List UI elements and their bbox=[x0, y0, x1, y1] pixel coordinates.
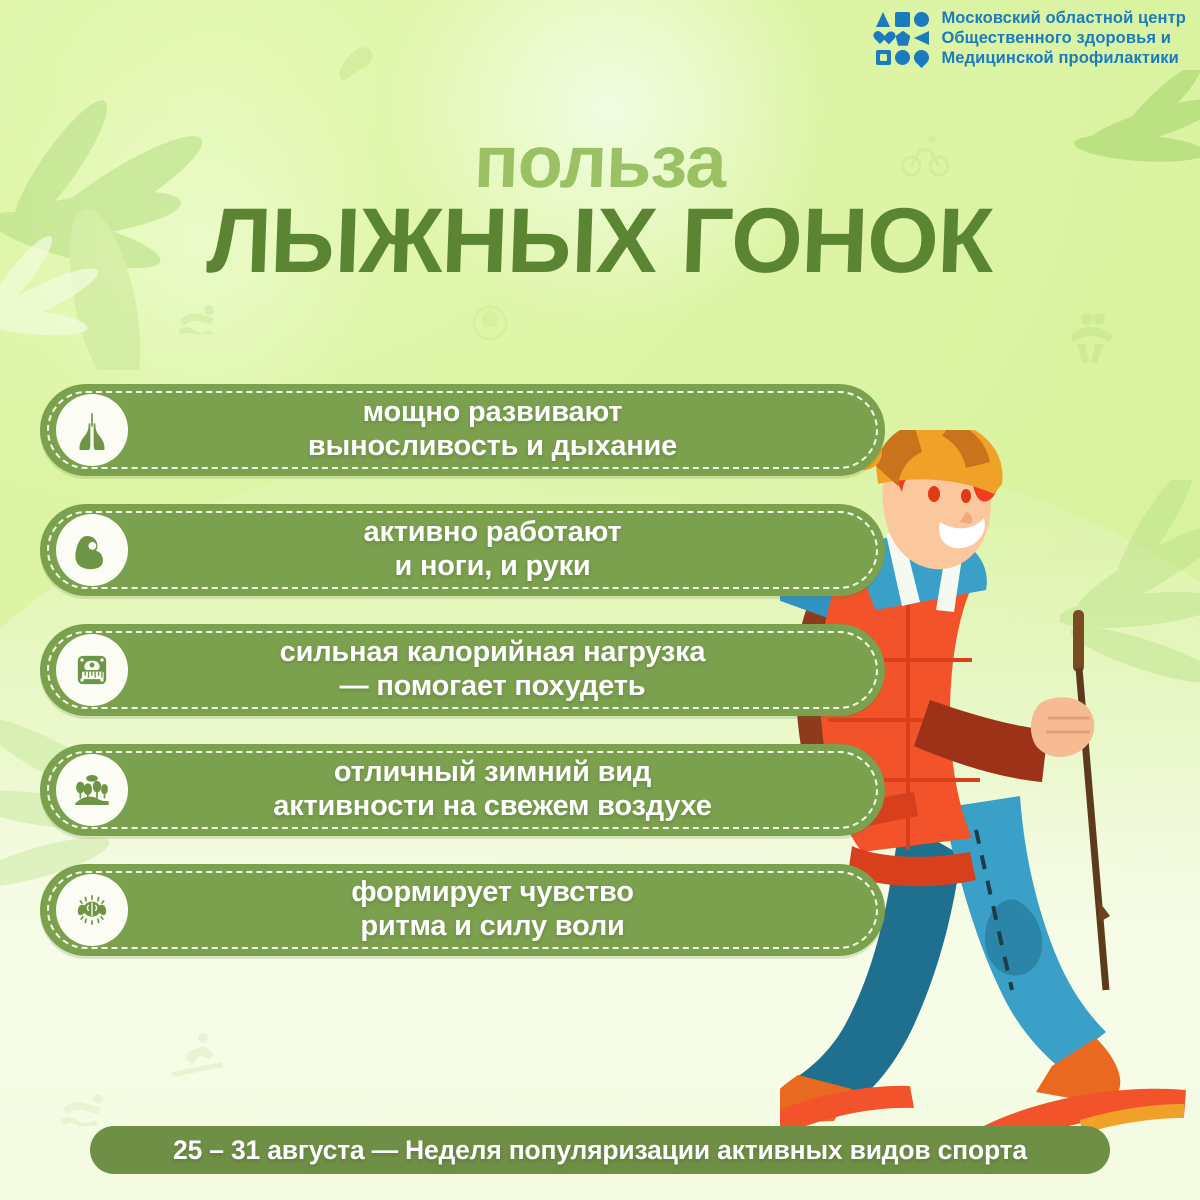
logo-shape-drop bbox=[911, 47, 932, 68]
benefit-card-2-text: активно работают и ноги, и руки bbox=[128, 516, 885, 583]
logo-shape-pentagon bbox=[895, 31, 910, 46]
ski-pole bbox=[1073, 610, 1110, 990]
benefit-card-1-line-2: выносливость и дыхание bbox=[134, 430, 851, 464]
leaf-cluster-right-icon bbox=[1060, 480, 1200, 780]
skier-back-boot bbox=[780, 1075, 852, 1123]
title-line-2: ЛЫЖНЫХ ГОНОК bbox=[0, 195, 1200, 287]
benefit-card-1-line-1: мощно развивают bbox=[134, 396, 851, 430]
benefit-card-4-line-2: активности на свежем воздухе bbox=[134, 790, 851, 824]
benefit-card-4-text: отличный зимний вид активности на свежем… bbox=[128, 756, 885, 823]
skier-pictogram-icon bbox=[170, 1030, 226, 1080]
footer-text: 25 – 31 августа — Неделя популяризации а… bbox=[173, 1135, 1027, 1166]
skier-front-boot bbox=[1036, 1038, 1120, 1102]
logo-text: Московский областной центр Общественного… bbox=[941, 8, 1186, 68]
logo-shape-circle bbox=[914, 12, 929, 27]
skier-eye-left bbox=[928, 486, 940, 502]
logo-shape-circle-2 bbox=[895, 50, 910, 65]
weight-scale-tape-icon bbox=[56, 634, 128, 706]
running-shoe-pictogram-icon bbox=[335, 30, 377, 88]
logo-shapes-grid-icon bbox=[876, 12, 929, 65]
benefit-card-4-line-1: отличный зимний вид bbox=[134, 756, 851, 790]
benefits-list: мощно развивают выносливость и дыхание а… bbox=[40, 384, 885, 984]
skier-front-leg bbox=[942, 796, 1106, 1068]
benefit-card-4[interactable]: отличный зимний вид активности на свежем… bbox=[40, 744, 885, 836]
lungs-icon bbox=[56, 394, 128, 466]
benefit-card-2-line-1: активно работают bbox=[134, 516, 851, 550]
benefit-card-5-text: формирует чувство ритма и силу воли bbox=[128, 876, 885, 943]
benefit-card-5-line-2: ритма и силу воли bbox=[134, 910, 851, 944]
logo-shape-square bbox=[895, 12, 910, 27]
benefit-card-3-line-2: — помогает похудеть bbox=[134, 670, 851, 704]
logo-line-3: Медицинской профилактики bbox=[941, 48, 1186, 68]
logo-shape-heart bbox=[876, 31, 891, 46]
benefit-card-5-line-1: формирует чувство bbox=[134, 876, 851, 910]
organization-logo: Московский областной центр Общественного… bbox=[876, 8, 1186, 68]
swimmer-bottom-pictogram-icon bbox=[60, 1090, 112, 1126]
skier-front-arm bbox=[914, 700, 1048, 782]
benefit-card-2[interactable]: активно работают и ноги, и руки bbox=[40, 504, 885, 596]
logo-shape-triangle bbox=[876, 12, 890, 27]
benefit-card-5[interactable]: формирует чувство ритма и силу воли bbox=[40, 864, 885, 956]
page-title: польза ЛЫЖНЫХ ГОНОК bbox=[0, 126, 1200, 287]
benefit-card-3[interactable]: сильная калорийная нагрузка — помогает п… bbox=[40, 624, 885, 716]
logo-shape-square-hole bbox=[876, 50, 891, 65]
logo-line-2: Общественного здоровья и bbox=[941, 28, 1186, 48]
ball-pictogram-icon bbox=[470, 300, 510, 346]
poster-canvas: Московский областной центр Общественного… bbox=[0, 0, 1200, 1200]
logo-shape-triangle-left bbox=[914, 31, 929, 45]
title-line-1: польза bbox=[0, 126, 1200, 197]
skier-eye-right bbox=[961, 489, 971, 503]
skier-hair bbox=[940, 440, 998, 502]
brain-strength-icon bbox=[56, 874, 128, 946]
footer-banner: 25 – 31 августа — Неделя популяризации а… bbox=[90, 1126, 1110, 1174]
wrestling-pictogram-icon bbox=[1065, 310, 1121, 368]
trees-nature-icon bbox=[56, 754, 128, 826]
logo-line-1: Московский областной центр bbox=[941, 8, 1186, 28]
skier-glove bbox=[1031, 697, 1094, 757]
swimmer-pictogram-icon bbox=[178, 300, 222, 334]
benefit-card-3-text: сильная калорийная нагрузка — помогает п… bbox=[128, 636, 885, 703]
skier-hat bbox=[876, 430, 1003, 494]
skier-head bbox=[883, 436, 991, 569]
benefit-card-2-line-2: и ноги, и руки bbox=[134, 550, 851, 584]
bicep-muscle-icon bbox=[56, 514, 128, 586]
benefit-card-1-text: мощно развивают выносливость и дыхание bbox=[128, 396, 885, 463]
benefit-card-1[interactable]: мощно развивают выносливость и дыхание bbox=[40, 384, 885, 476]
skier-smile bbox=[939, 518, 985, 548]
benefit-card-3-line-1: сильная калорийная нагрузка bbox=[134, 636, 851, 670]
